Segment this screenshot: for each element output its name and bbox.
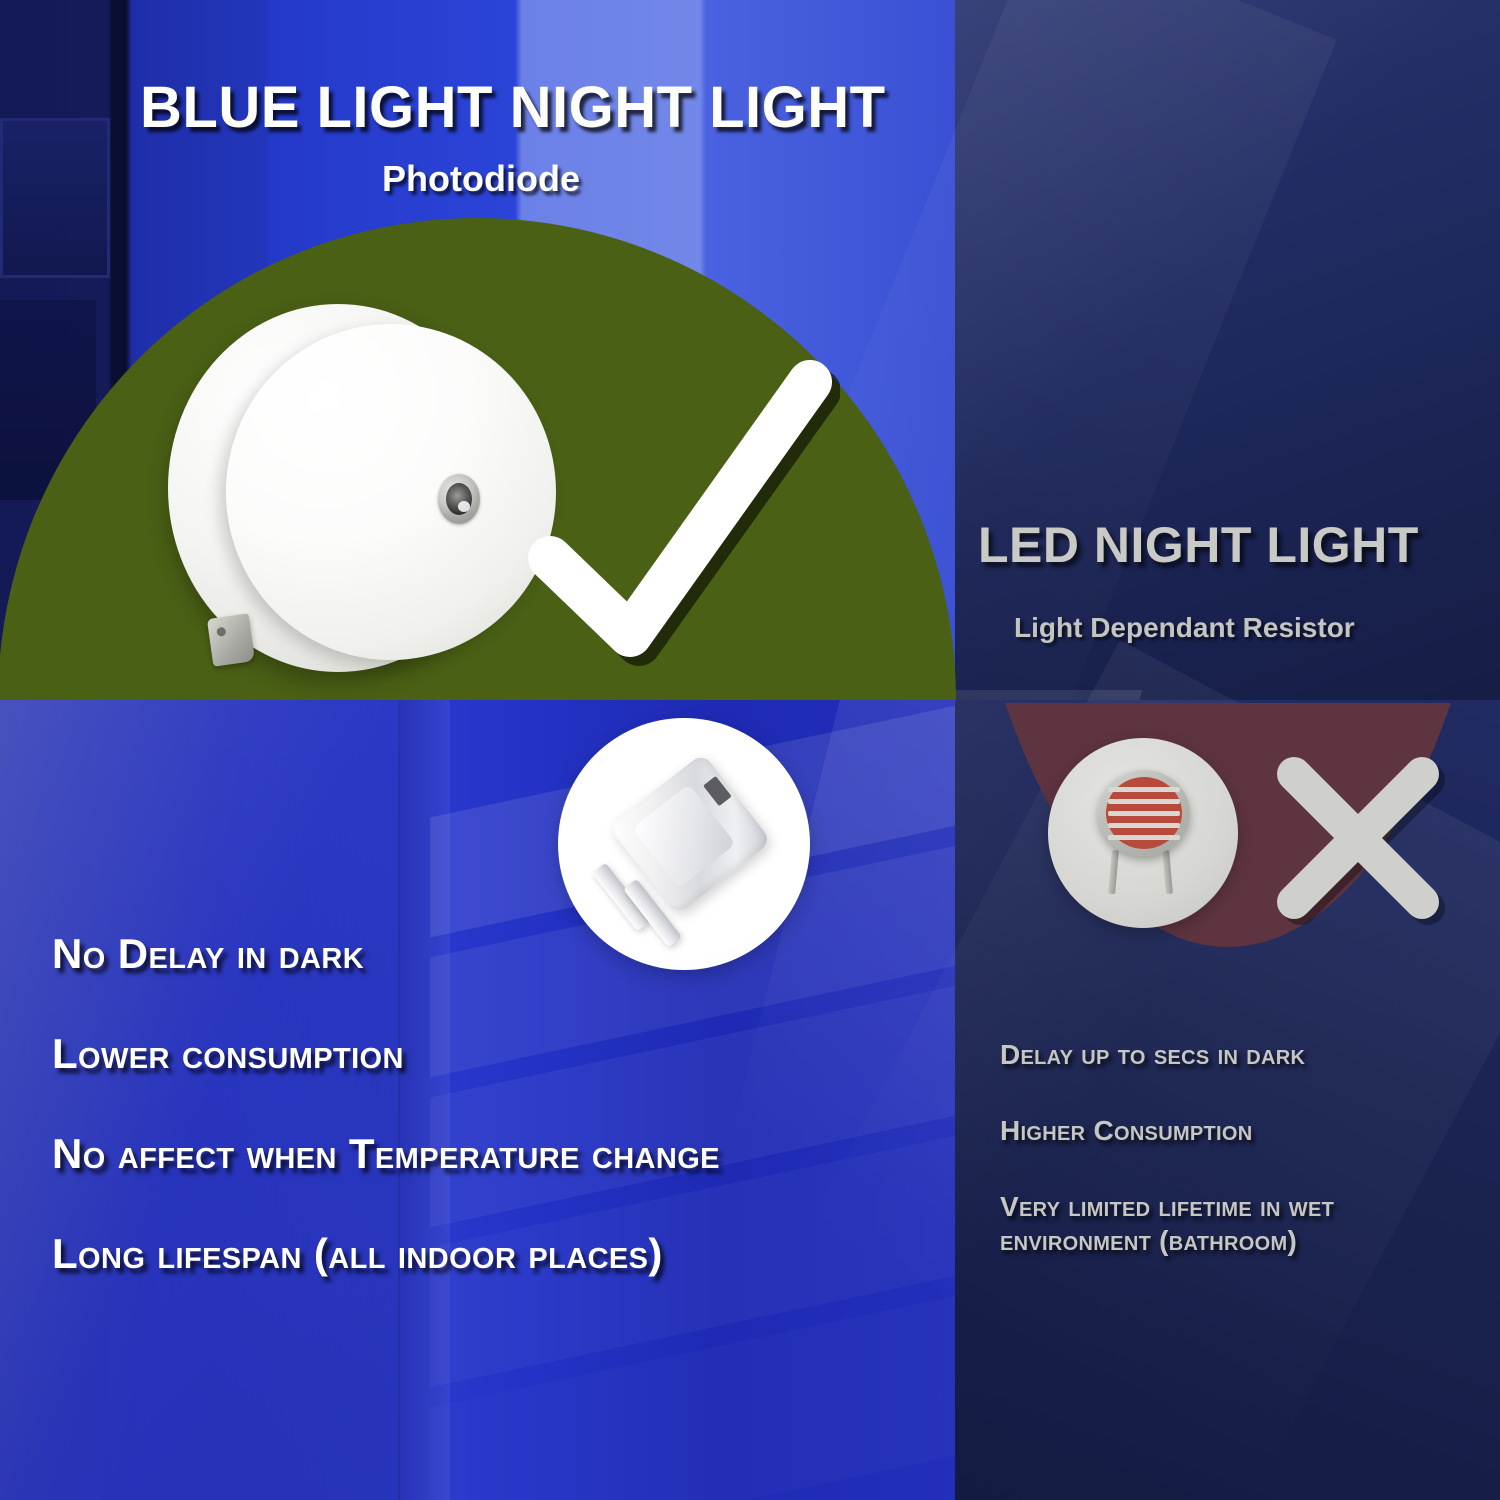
- bad-side-feature-list: Delay up to secs in dark Higher Consumpt…: [1000, 1038, 1470, 1301]
- good-feature-item: Long lifespan (all indoor places): [52, 1230, 962, 1278]
- ldr-face: [1106, 777, 1182, 849]
- ldr-stripe: [1108, 835, 1180, 840]
- good-side-feature-list: No Delay in dark Lower consumption No af…: [52, 930, 962, 1330]
- good-feature-item: No Delay in dark: [52, 930, 962, 978]
- good-side-title: BLUE LIGHT NIGHT LIGHT: [140, 74, 886, 141]
- night-light-plug-screw: [216, 627, 226, 637]
- ldr-stripe: [1108, 811, 1180, 816]
- photodiode-sensor-icon: [438, 474, 480, 524]
- photodiode-lens: [446, 483, 472, 515]
- light-dependant-resistor-icon: [1048, 738, 1238, 928]
- good-feature-item: No affect when Temperature change: [52, 1130, 962, 1178]
- ldr-stripe: [1108, 823, 1180, 828]
- bad-feature-item: Very limited lifetime in wet environment…: [1000, 1190, 1470, 1258]
- good-side-subtitle: Photodiode: [382, 158, 580, 200]
- bad-side-title: LED NIGHT LIGHT: [978, 516, 1419, 574]
- ldr-leg: [1162, 850, 1173, 894]
- ldr-body: [1098, 770, 1190, 856]
- plug-notch: [703, 776, 732, 806]
- background-door-frame: [0, 118, 110, 278]
- bad-side-subtitle: Light Dependant Resistor: [1014, 612, 1355, 644]
- check-mark-icon: [520, 360, 840, 670]
- ldr-leg: [1108, 850, 1119, 894]
- bad-feature-item: Higher Consumption: [1000, 1114, 1470, 1148]
- night-light-disc-icon: [168, 298, 568, 688]
- night-light-plug-tab: [207, 613, 255, 666]
- photodiode-glint: [458, 501, 470, 512]
- ldr-stripe: [1108, 787, 1180, 792]
- ldr-stripe: [1108, 799, 1180, 804]
- comparison-infographic: BLUE LIGHT NIGHT LIGHT Photodiode No Del…: [0, 0, 1500, 1500]
- night-light-front-face: [226, 324, 556, 660]
- cross-mark-icon: [1268, 748, 1448, 928]
- good-feature-item: Lower consumption: [52, 1030, 962, 1078]
- bad-feature-item: Delay up to secs in dark: [1000, 1038, 1470, 1072]
